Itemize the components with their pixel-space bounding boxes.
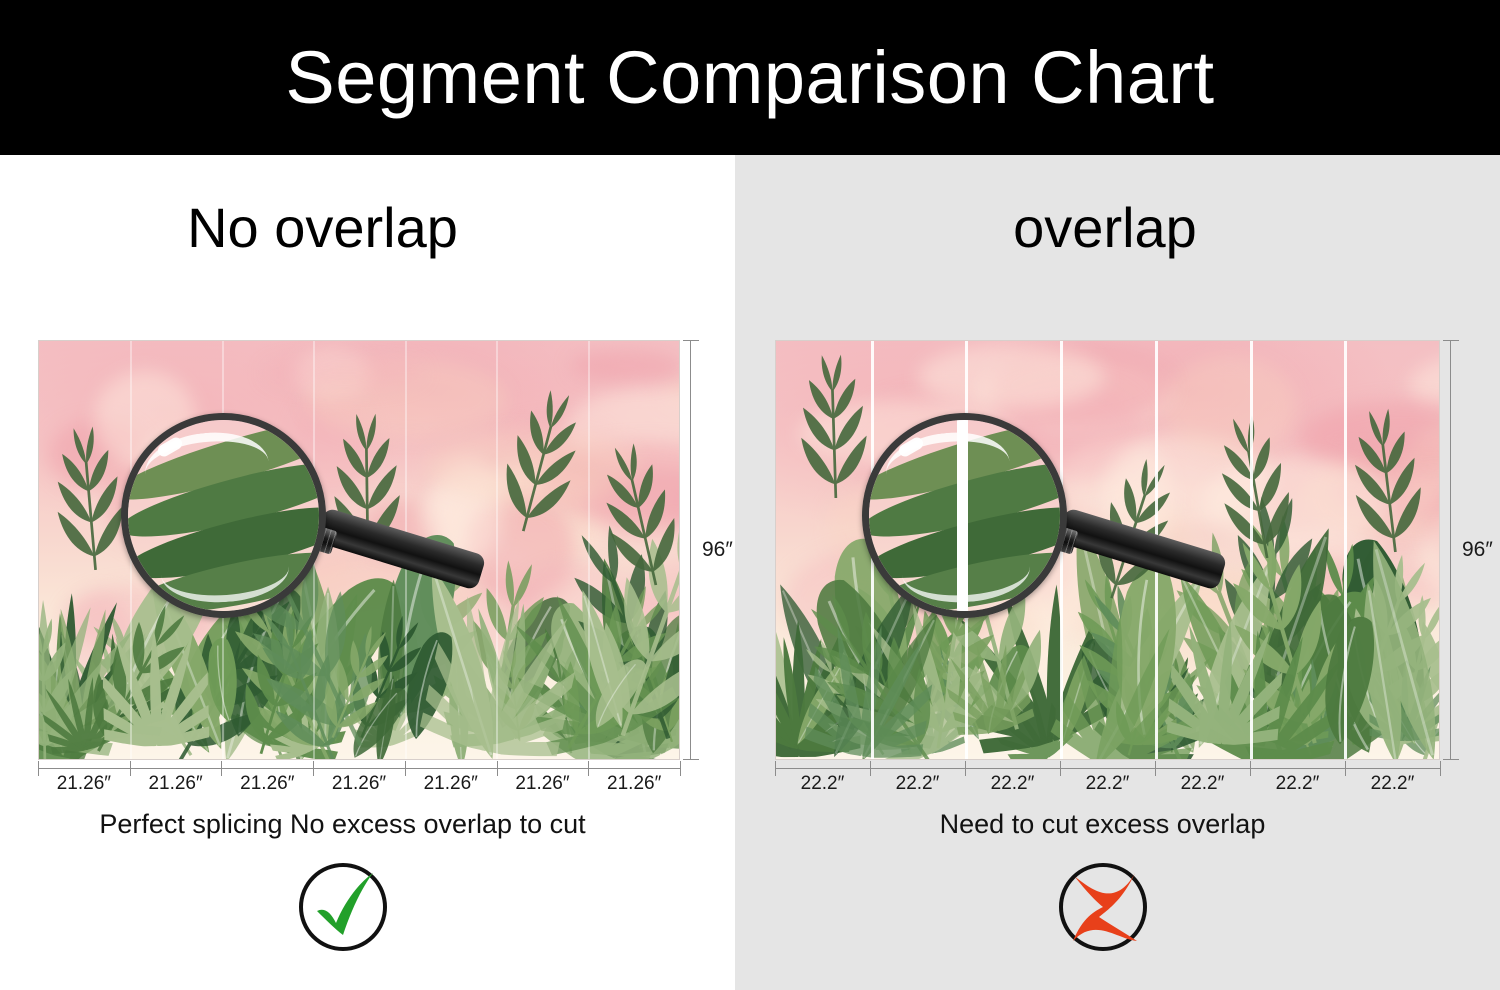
mural-image-no-overlap — [38, 340, 680, 760]
panel-overlap: overlap 96″ 22.2″22.2″22.2″2 — [735, 155, 1500, 990]
dimension-tick — [680, 761, 681, 776]
panel-no-overlap: No overlap 96″ — [0, 155, 735, 990]
panel-heading-no-overlap: No overlap — [0, 200, 735, 256]
mural-image-overlap — [775, 340, 1440, 760]
cross-mark-icon — [1051, 855, 1155, 959]
magnifier-lens — [862, 413, 1067, 618]
magnifier-handle — [1056, 507, 1227, 591]
verdict-no-overlap — [0, 855, 735, 959]
segment-width-label: 22.2″ — [870, 774, 965, 795]
segment-width-label: 22.2″ — [1155, 774, 1250, 795]
caption-overlap: Need to cut excess overlap — [735, 810, 1500, 840]
segment-width-label: 22.2″ — [1345, 774, 1440, 795]
segment-width-label: 21.26″ — [313, 774, 405, 795]
dimension-rule — [690, 340, 691, 760]
panel-heading-overlap: overlap — [735, 200, 1500, 256]
dimension-rule — [1450, 340, 1451, 760]
dimension-rule — [38, 768, 680, 769]
check-mark-icon — [291, 855, 395, 959]
caption-no-overlap: Perfect splicing No excess overlap to cu… — [0, 810, 735, 840]
height-label-overlap: 96″ — [1462, 538, 1493, 562]
dimension-tick — [1440, 761, 1441, 776]
segment-width-label: 22.2″ — [1250, 774, 1345, 795]
magnifier-icon — [121, 413, 541, 643]
segment-labels-no-overlap: 21.26″21.26″21.26″21.26″21.26″21.26″21.2… — [38, 774, 680, 795]
magnifier-handle — [315, 507, 486, 591]
segment-width-label: 22.2″ — [1060, 774, 1155, 795]
height-label-no-overlap: 96″ — [702, 538, 733, 562]
dimension-rule — [775, 768, 1440, 769]
page-title: Segment Comparison Chart — [285, 41, 1214, 115]
segment-width-label: 21.26″ — [405, 774, 497, 795]
dimension-tick — [1443, 759, 1459, 760]
dimension-tick — [683, 340, 699, 341]
segment-width-label: 22.2″ — [965, 774, 1060, 795]
title-banner: Segment Comparison Chart — [0, 0, 1500, 155]
comparison-panels: No overlap 96″ — [0, 155, 1500, 990]
seam-line — [588, 341, 590, 759]
mural-no-overlap: 96″ 21.26″21.26″21.26″21.26″21.26″21.26″… — [38, 340, 680, 760]
seam-line — [1344, 341, 1347, 759]
segment-width-label: 21.26″ — [221, 774, 313, 795]
segment-width-label: 21.26″ — [130, 774, 222, 795]
dimension-tick — [683, 759, 699, 760]
segment-width-label: 21.26″ — [588, 774, 680, 795]
verdict-overlap — [735, 855, 1500, 959]
magnifier-lens — [121, 413, 326, 618]
segment-width-label: 21.26″ — [38, 774, 130, 795]
segment-labels-overlap: 22.2″22.2″22.2″22.2″22.2″22.2″22.2″ — [775, 774, 1440, 795]
dimension-tick — [1443, 340, 1459, 341]
mural-overlap: 96″ 22.2″22.2″22.2″22.2″22.2″22.2″22.2″ — [775, 340, 1440, 760]
segment-width-label: 21.26″ — [497, 774, 589, 795]
screenshot-root: Segment Comparison Chart No overlap 96″ — [0, 0, 1500, 990]
segment-width-label: 22.2″ — [775, 774, 870, 795]
magnifier-icon — [862, 413, 1282, 643]
